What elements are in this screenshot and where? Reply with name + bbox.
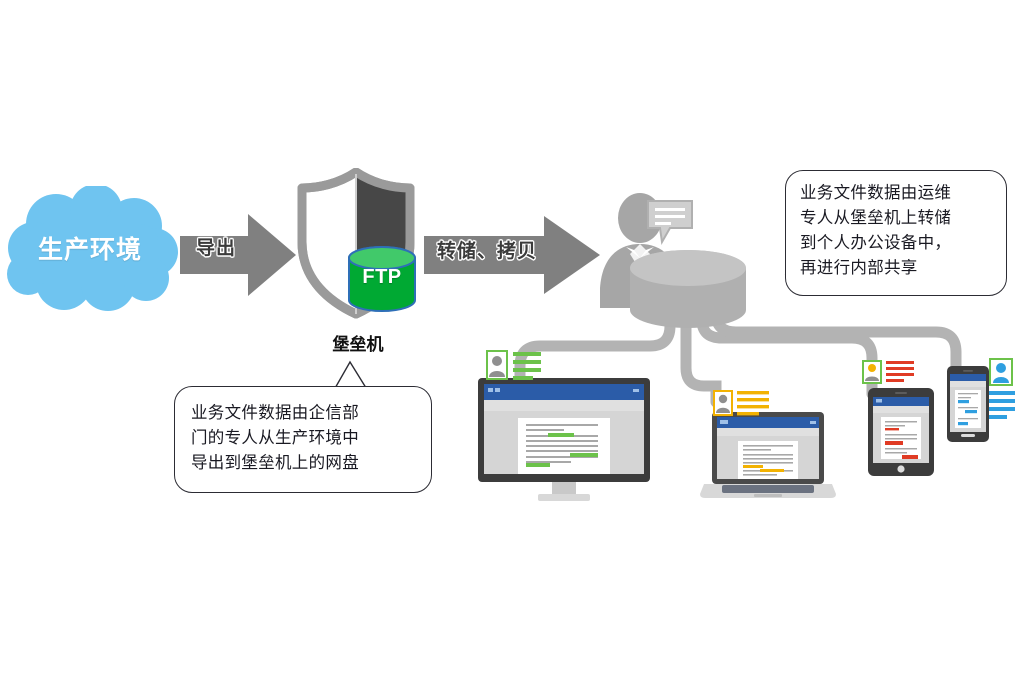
callout-right[interactable]: 业务文件数据由运维 专人从堡垒机上转储 到个人办公设备中， 再进行内部共享 [785, 170, 1007, 296]
callout-left-line-1: 业务文件数据由企信部 [191, 401, 417, 426]
callout-right-line-2: 专人从堡垒机上转储 [800, 206, 993, 231]
user-card-icon [989, 358, 1015, 420]
tablet[interactable] [868, 388, 934, 476]
ftp-storage-label: FTP [352, 266, 412, 289]
user-card-icon [486, 350, 544, 384]
callout-right-line-3: 到个人办公设备中， [800, 231, 993, 256]
callout-right-line-4: 再进行内部共享 [800, 256, 993, 281]
shared-data-cylinder[interactable] [626, 248, 750, 336]
export-arrow-label: 导出 [196, 233, 236, 260]
callout-left[interactable]: 业务文件数据由企信部 门的专人从生产环境中 导出到堡垒机上的网盘 [174, 386, 432, 493]
callout-left-line-3: 导出到堡垒机上的网盘 [191, 451, 417, 476]
diagram-canvas: 生产环境 导出 FTP 堡垒机 转储、拷贝 [0, 0, 1015, 675]
callout-left-line-2: 门的专人从生产环境中 [191, 426, 417, 451]
laptop[interactable] [700, 412, 836, 498]
desktop-monitor[interactable] [478, 378, 650, 506]
callout-right-line-1: 业务文件数据由运维 [800, 181, 993, 206]
cloud-label: 生产环境 [8, 230, 172, 266]
transfer-arrow-label: 转储、拷贝 [437, 236, 537, 263]
user-card-icon [862, 360, 916, 386]
smartphone[interactable] [947, 366, 989, 442]
chat-bubble-icon [644, 198, 696, 246]
user-card-icon [713, 390, 771, 418]
cloud-shape-holder: 生产环境 [8, 192, 172, 302]
